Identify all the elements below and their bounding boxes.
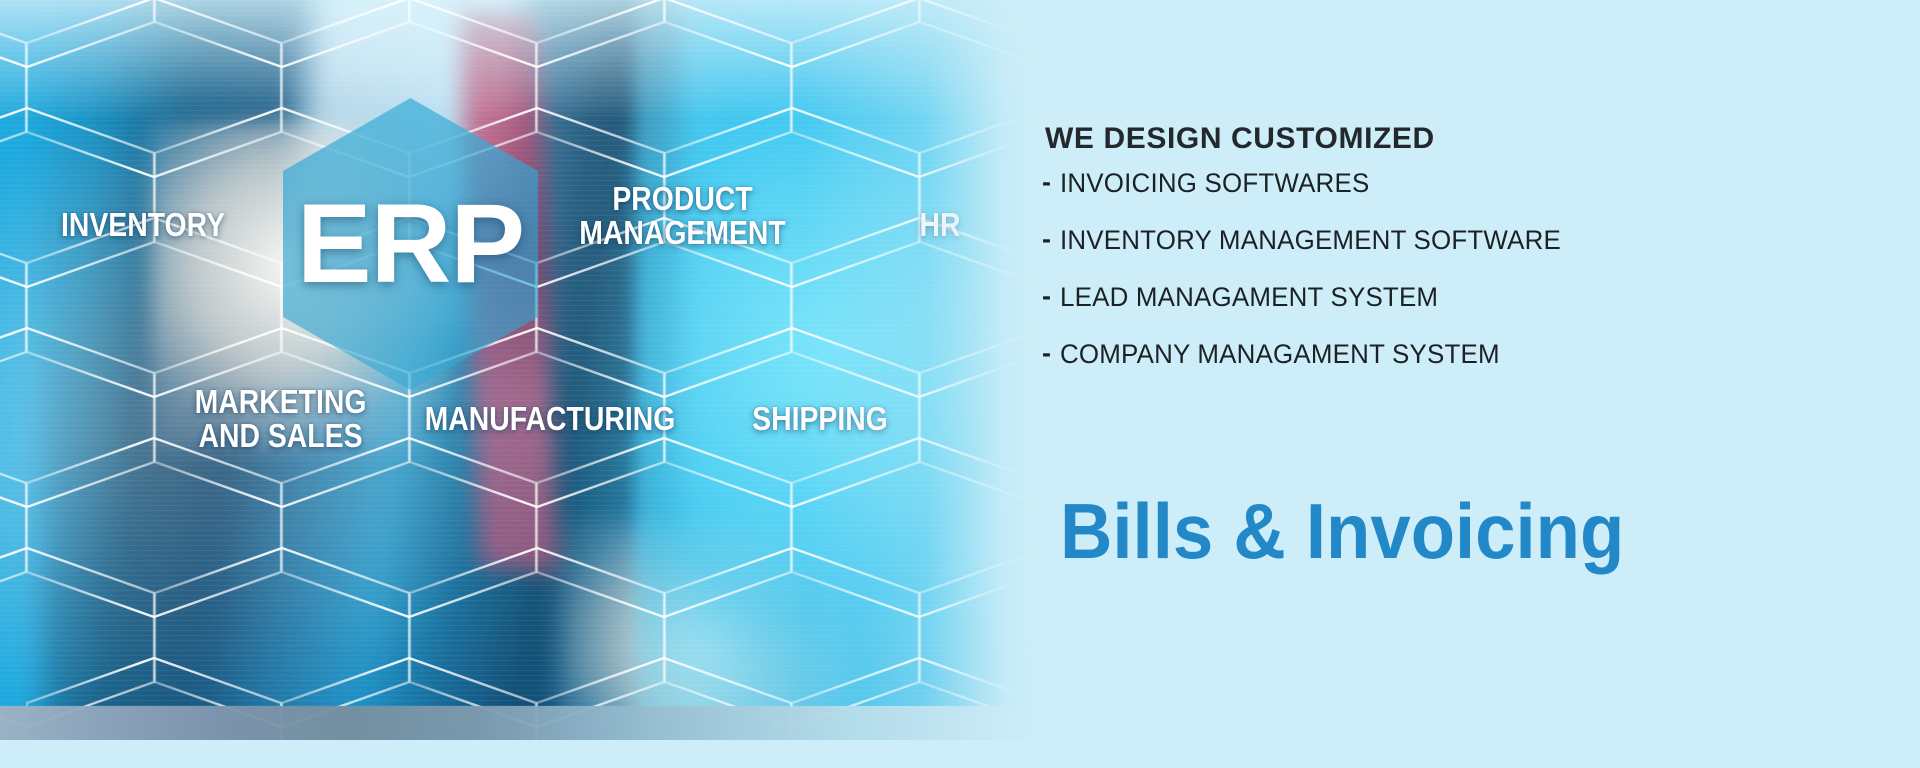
dash-bullet-icon: -	[1042, 167, 1051, 197]
hex-label-marketing-and-sales[interactable]: MARKETING AND SALES	[184, 385, 378, 454]
hex-label-inventory[interactable]: INVENTORY	[53, 208, 234, 242]
list-item-label: LEAD MANAGAMENT SYSTEM	[1060, 282, 1438, 312]
list-item-label: INVOICING SOFTWARES	[1060, 168, 1369, 198]
panel-headline: WE DESIGN CUSTOMIZED	[1045, 122, 1435, 156]
list-item[interactable]: - INVOICING SOFTWARES	[1042, 168, 1912, 198]
hero-photo: ERP INVENTORY PRODUCT MANAGEMENT HR MARK…	[0, 0, 1035, 740]
list-item[interactable]: - COMPANY MANAGAMENT SYSTEM	[1042, 339, 1912, 369]
photo-bottom-strip	[0, 706, 1035, 740]
list-item[interactable]: - LEAD MANAGAMENT SYSTEM	[1042, 282, 1912, 312]
brand-title: Bills & Invoicing	[1060, 492, 1624, 570]
hex-label-manufacturing[interactable]: MANUFACTURING	[421, 402, 679, 436]
erp-banner: ERP INVENTORY PRODUCT MANAGEMENT HR MARK…	[0, 0, 1920, 768]
dash-bullet-icon: -	[1042, 338, 1051, 368]
feature-list: - INVOICING SOFTWARES - INVENTORY MANAGE…	[1042, 168, 1912, 396]
hex-label-product-management[interactable]: PRODUCT MANAGEMENT	[577, 182, 788, 251]
list-item-label: INVENTORY MANAGEMENT SOFTWARE	[1060, 225, 1561, 255]
dash-bullet-icon: -	[1042, 281, 1051, 311]
dash-bullet-icon: -	[1042, 224, 1051, 254]
list-item-label: COMPANY MANAGAMENT SYSTEM	[1060, 339, 1500, 369]
erp-hexagon-node[interactable]: ERP	[283, 98, 538, 390]
list-item[interactable]: - INVENTORY MANAGEMENT SOFTWARE	[1042, 225, 1912, 255]
photo-right-fade	[805, 0, 1035, 740]
erp-label: ERP	[283, 98, 538, 390]
